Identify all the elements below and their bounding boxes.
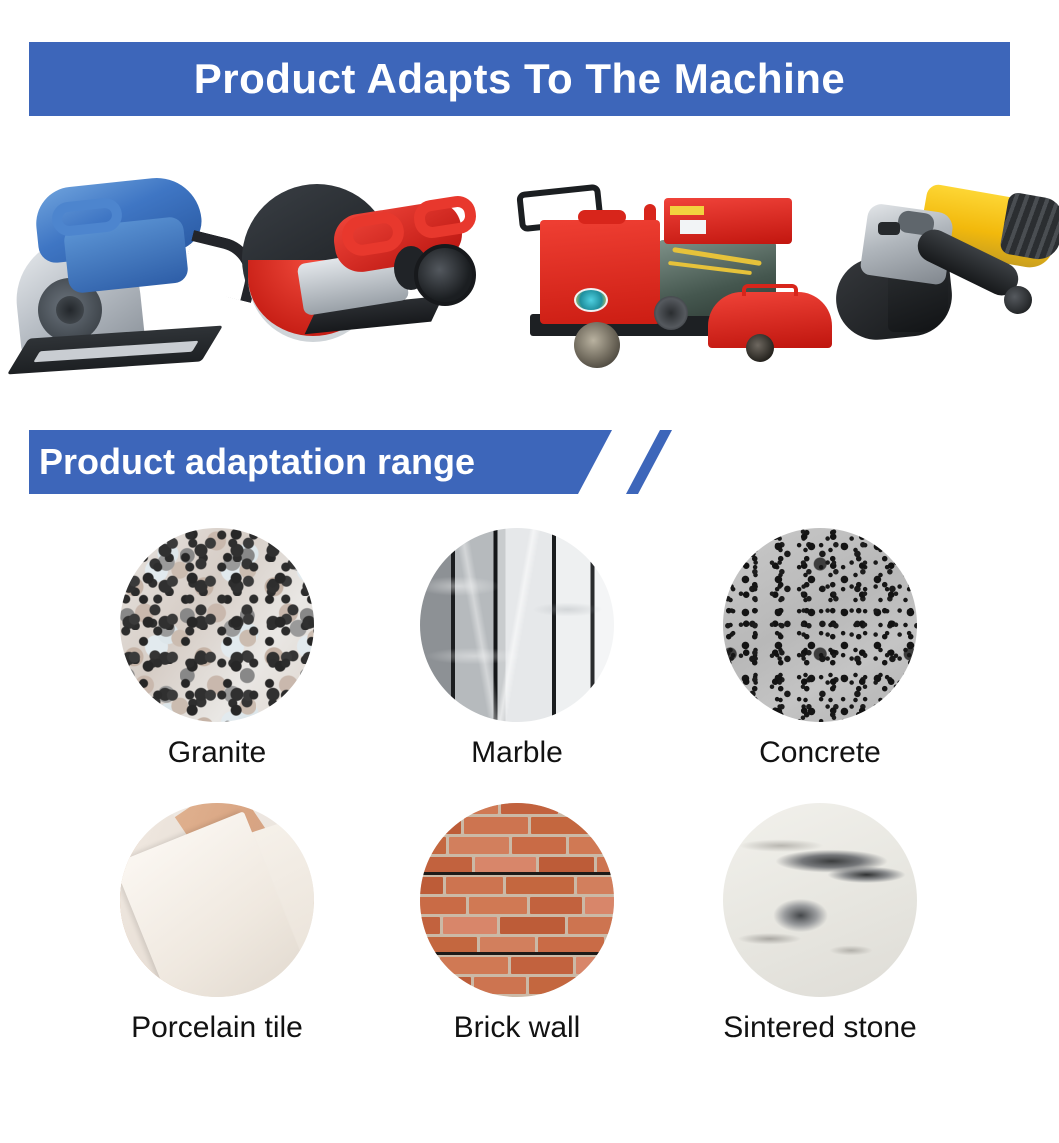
rear-wheel [746, 334, 774, 362]
brick [561, 803, 614, 814]
material-item-concrete: Concrete [670, 528, 970, 770]
machine-blue-marble-cutter [8, 160, 238, 375]
machine-images-row [0, 150, 1059, 400]
brick [569, 837, 614, 854]
brick [435, 803, 498, 814]
brick [464, 817, 528, 834]
brick [420, 803, 432, 814]
guard-handle [742, 284, 798, 296]
brick [592, 817, 614, 834]
brick [420, 977, 471, 994]
brick-course [420, 897, 614, 914]
rear-grip [999, 191, 1059, 262]
brick [420, 897, 466, 914]
material-label: Brick wall [367, 1011, 667, 1045]
blade-hub [56, 296, 84, 324]
brick [577, 877, 614, 894]
page-title: Product Adapts To The Machine [194, 55, 846, 103]
material-item-brick-wall: Brick wall [367, 803, 667, 1045]
front-wheel [574, 322, 620, 368]
brick-course [420, 803, 614, 814]
brick [512, 837, 566, 854]
brick [576, 957, 614, 974]
material-label: Sintered stone [670, 1011, 970, 1045]
brick [501, 803, 558, 814]
material-label: Porcelain tile [67, 1011, 367, 1045]
brick [500, 917, 565, 934]
brick-seam [420, 872, 614, 875]
brick [420, 877, 443, 894]
material-row-2: Porcelain tile Brick wall Sintered stone [0, 803, 1059, 1078]
brick [446, 877, 503, 894]
brick-course [420, 817, 614, 834]
brick [585, 897, 614, 914]
adaptation-range-banner: Product adaptation range [29, 430, 689, 494]
material-item-granite: Granite [67, 528, 367, 770]
brick [443, 917, 497, 934]
brick-course [420, 877, 614, 894]
material-item-sintered-stone: Sintered stone [670, 803, 970, 1045]
material-row-1: Granite Marble Concrete [0, 528, 1059, 803]
brick-wall-swatch-icon [420, 803, 614, 997]
brick [595, 977, 614, 994]
brick-course [420, 957, 614, 974]
machine-red-cut-off-saw [238, 170, 488, 370]
sintered-stone-swatch-icon [723, 803, 917, 997]
brick-course [420, 837, 614, 854]
material-label: Marble [367, 736, 667, 770]
brick [529, 977, 592, 994]
concrete-swatch-icon [723, 528, 917, 722]
side-handle-end [1004, 286, 1032, 314]
material-label: Concrete [670, 736, 970, 770]
engine-label [680, 220, 706, 234]
material-grid: Granite Marble Concrete Porcelain tile B… [0, 528, 1059, 1078]
brick [440, 957, 508, 974]
banner-slash-accent [626, 430, 672, 494]
brand-badge [574, 288, 608, 312]
brick [530, 897, 582, 914]
product-adapts-banner: Product Adapts To The Machine [29, 42, 1010, 116]
brick-course [420, 917, 614, 934]
engine-decal [670, 206, 704, 215]
brick [420, 817, 461, 834]
brick [449, 837, 509, 854]
spindle-lock-button [878, 222, 900, 235]
guide-wheel [414, 244, 476, 306]
brick [420, 917, 440, 934]
machine-yellow-angle-grinder [836, 174, 1056, 364]
marble-swatch-icon [420, 528, 614, 722]
rear-handle [411, 193, 478, 240]
material-label: Granite [67, 736, 367, 770]
tank-cap [578, 210, 626, 224]
porcelain-tile-swatch-icon [120, 803, 314, 997]
brick [420, 837, 446, 854]
drive-pulley [654, 296, 688, 330]
brick [568, 917, 614, 934]
brick [511, 957, 573, 974]
brick-seam [420, 952, 614, 955]
granite-swatch-icon [120, 528, 314, 722]
section-title: Product adaptation range [29, 441, 475, 483]
brick-course [420, 977, 614, 994]
brick [469, 897, 527, 914]
brick [420, 957, 437, 974]
brick [506, 877, 574, 894]
section-banner-bar: Product adaptation range [29, 430, 612, 494]
material-item-porcelain-tile: Porcelain tile [67, 803, 367, 1045]
machine-red-diesel-floor-saw [512, 162, 832, 378]
brick [531, 817, 589, 834]
material-item-marble: Marble [367, 528, 667, 770]
brick [474, 977, 526, 994]
